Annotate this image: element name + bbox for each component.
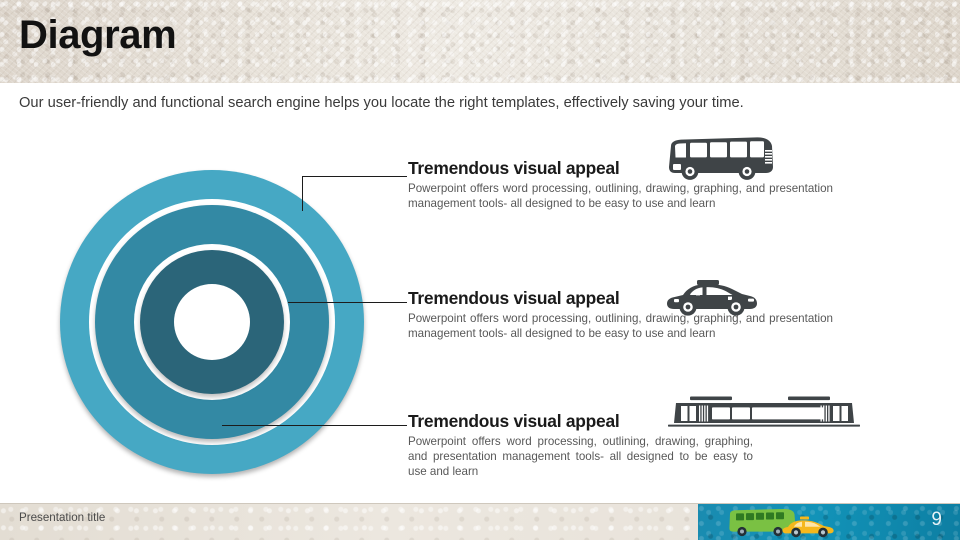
- leader-line-1-horizontal: [302, 176, 407, 177]
- page-title: Diagram: [19, 13, 176, 58]
- leader-line-1-vertical: [302, 176, 303, 211]
- taxi-car-icon: [666, 278, 758, 323]
- callout-heading: Tremendous visual appeal: [408, 288, 833, 309]
- ring-center-hole: [174, 284, 250, 360]
- concentric-ring-diagram: [56, 162, 368, 484]
- leader-line-2: [288, 302, 407, 303]
- callout-block-2: Tremendous visual appeal Powerpoint offe…: [408, 288, 833, 341]
- footer-accent-panel: [698, 504, 960, 540]
- footer-presentation-title: Presentation title: [19, 511, 105, 524]
- leader-line-3: [222, 425, 407, 426]
- tram-train-icon: [668, 396, 860, 435]
- callout-body: Powerpoint offers word processing, outli…: [408, 311, 833, 341]
- page-number: 9: [931, 509, 942, 531]
- footer-vehicles-icon: [728, 508, 848, 540]
- callout-body: Powerpoint offers word processing, outli…: [408, 434, 753, 480]
- intro-paragraph: Our user-friendly and functional search …: [19, 93, 759, 113]
- bus-icon: [665, 136, 777, 187]
